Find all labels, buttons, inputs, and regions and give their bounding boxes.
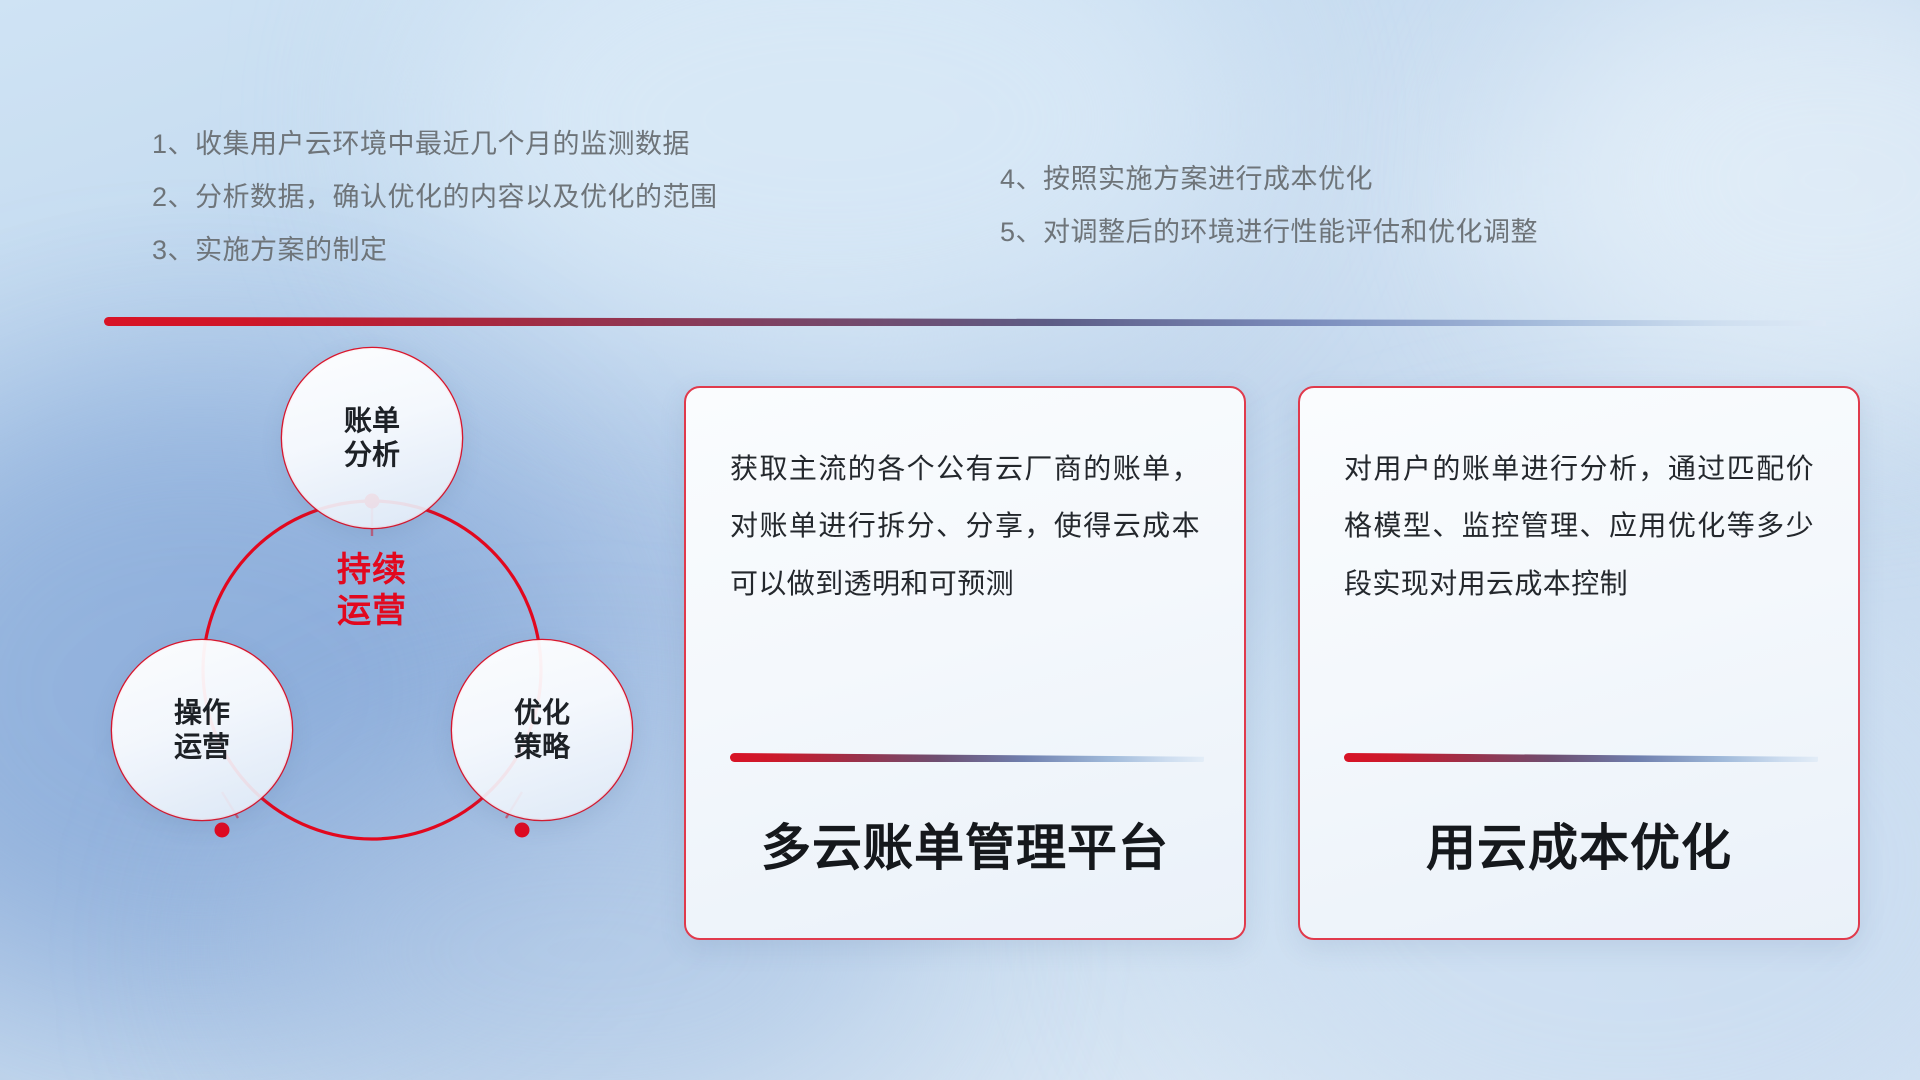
step-item: 3、实施方案的制定 bbox=[152, 224, 718, 277]
background-blob bbox=[1520, 0, 1920, 420]
venn-lobe-label-line1: 操作 bbox=[174, 696, 230, 730]
venn-lobe-label-line1: 账单 bbox=[344, 404, 400, 438]
venn-center-label-line2: 运营 bbox=[282, 591, 462, 632]
venn-node-dot-left bbox=[215, 823, 230, 838]
venn-center-label: 持续 运营 bbox=[282, 550, 462, 633]
feature-card-multicloud-billing[interactable]: 获取主流的各个公有云厂商的账单，对账单进行拆分、分享，使得云成本可以做到透明和可… bbox=[684, 386, 1246, 940]
venn-lobe-operations[interactable]: 操作 运营 bbox=[112, 640, 292, 820]
venn-lobe-label-line2: 策略 bbox=[514, 730, 570, 764]
card-body-text: 对用户的账单进行分析，通过匹配价格模型、监控管理、应用优化等多少段实现对用云成本… bbox=[1344, 440, 1814, 612]
venn-center-label-line1: 持续 bbox=[282, 550, 462, 591]
venn-lobe-label-line1: 优化 bbox=[514, 696, 570, 730]
card-title: 多云账单管理平台 bbox=[686, 808, 1244, 880]
step-item: 2、分析数据，确认优化的内容以及优化的范围 bbox=[152, 171, 718, 224]
feature-card-cost-optimization[interactable]: 对用户的账单进行分析，通过匹配价格模型、监控管理、应用优化等多少段实现对用云成本… bbox=[1298, 386, 1860, 940]
step-item: 4、按照实施方案进行成本优化 bbox=[1000, 153, 1538, 206]
venn-node-dot-right bbox=[515, 823, 530, 838]
steps-right-column: 4、按照实施方案进行成本优化 5、对调整后的环境进行性能评估和优化调整 bbox=[1000, 153, 1538, 259]
venn-lobe-optimization-strategy[interactable]: 优化 策略 bbox=[452, 640, 632, 820]
venn-lobe-label-line2: 分析 bbox=[344, 438, 400, 472]
card-divider-rule bbox=[730, 753, 1204, 762]
card-body-text: 获取主流的各个公有云厂商的账单，对账单进行拆分、分享，使得云成本可以做到透明和可… bbox=[730, 440, 1200, 612]
step-item: 1、收集用户云环境中最近几个月的监测数据 bbox=[152, 118, 718, 171]
venn-lobe-billing-analysis[interactable]: 账单 分析 bbox=[282, 348, 462, 528]
steps-left-column: 1、收集用户云环境中最近几个月的监测数据 2、分析数据，确认优化的内容以及优化的… bbox=[152, 118, 718, 277]
card-title: 用云成本优化 bbox=[1300, 808, 1858, 880]
section-divider-rule bbox=[104, 317, 1826, 326]
venn-diagram: 账单 分析 操作 运营 优化 策略 持续 运营 bbox=[90, 340, 650, 960]
slide-canvas: 1、收集用户云环境中最近几个月的监测数据 2、分析数据，确认优化的内容以及优化的… bbox=[0, 0, 1920, 1080]
venn-lobe-label-line2: 运营 bbox=[174, 730, 230, 764]
step-item: 5、对调整后的环境进行性能评估和优化调整 bbox=[1000, 206, 1538, 259]
card-divider-rule bbox=[1344, 753, 1818, 762]
